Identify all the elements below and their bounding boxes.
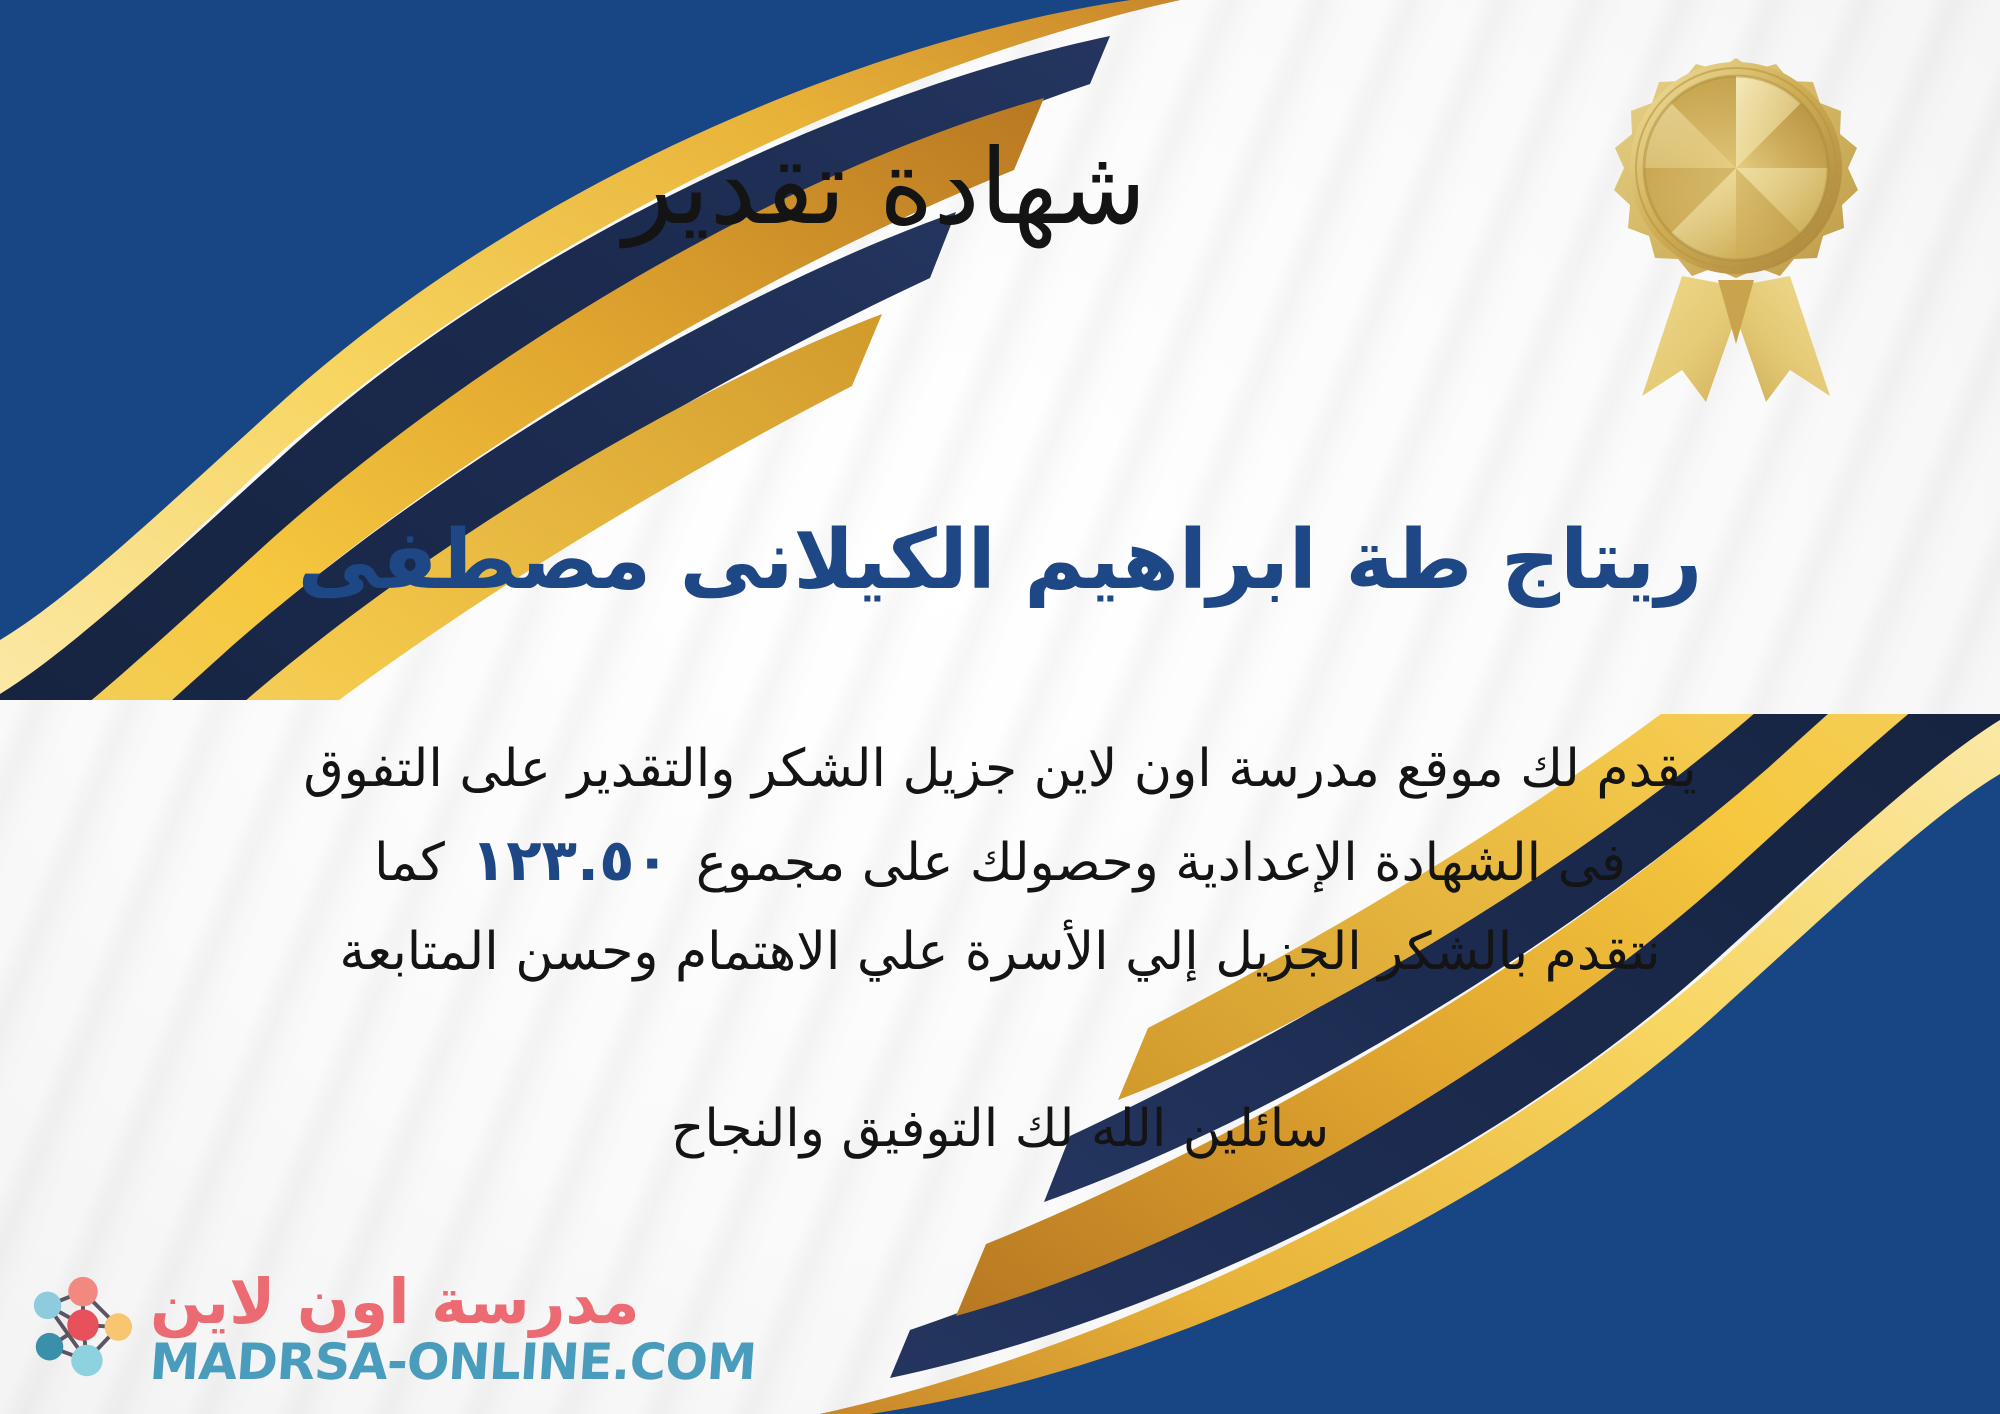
body-line-2: فى الشهادة الإعدادية وحصولك على مجموع١٢٣… — [28, 812, 1972, 908]
brand-domain-text: MADRSA-ONLINE.COM — [148, 1337, 757, 1387]
gold-medal-seal-icon — [1586, 44, 1886, 404]
body-line-1: يقدم لك موقع مدرسة اون لاين جزيل الشكر و… — [28, 726, 1972, 812]
brand-logo[interactable]: مدرسة اون لاين MADRSA-ONLINE.COM — [22, 1270, 756, 1388]
certificate-body: يقدم لك موقع مدرسة اون لاين جزيل الشكر و… — [28, 726, 1972, 995]
network-nodes-icon — [22, 1270, 140, 1388]
brand-name-arabic: مدرسة اون لاين — [150, 1271, 640, 1333]
closing-line: سائلين الله لك التوفيق والنجاح — [0, 1090, 2000, 1168]
recipient-name: ريتاج طة ابراهيم الكيلانى مصطفى — [0, 510, 2000, 613]
body-line-2-prefix: فى الشهادة الإعدادية وحصولك على مجموع — [696, 833, 1626, 893]
body-line-2-suffix: كما — [374, 833, 445, 893]
brand-logo-text: مدرسة اون لاين MADRSA-ONLINE.COM — [150, 1271, 756, 1387]
certificate-canvas: شهادة تقدير ريتاج طة ابراهيم الكيلانى مص… — [0, 0, 2000, 1414]
body-line-3: نتقدم بالشكر الجزيل إلي الأسرة علي الاهت… — [28, 909, 1972, 995]
grade-total-value: ١٢٣.٥٠ — [445, 826, 696, 894]
